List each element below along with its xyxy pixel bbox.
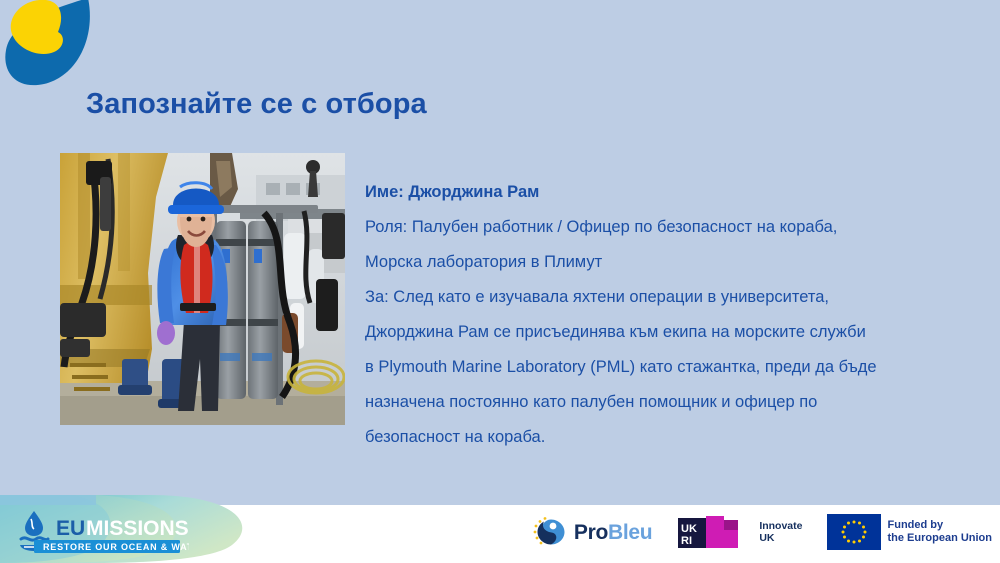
member-role-line-2: Морска лаборатория в Плимут xyxy=(365,245,965,280)
eu-flag-icon xyxy=(827,514,881,550)
member-about-line-2: Джорджина Рам се присъединява към екипа … xyxy=(365,315,965,350)
funded-by-eu-logo: Funded by the European Union xyxy=(827,512,993,552)
member-role-line-1: Роля: Палубен работник / Офицер по безоп… xyxy=(365,210,965,245)
probleu-pro-text: Pro xyxy=(574,521,608,544)
probleu-icon xyxy=(531,514,567,550)
member-name: Име: Джорджина Рам xyxy=(365,175,965,210)
funded-by-eu-text: Funded by the European Union xyxy=(888,519,993,546)
innovate-uk-logo: UK RI Innovate UK xyxy=(676,512,802,552)
svg-text:RESTORE OUR OCEAN & WATERS: RESTORE OUR OCEAN & WATERS xyxy=(43,542,189,552)
slide-canvas: Запознайте се с отбора xyxy=(0,0,1000,563)
innovate-line-1: Innovate xyxy=(759,520,802,532)
member-about-line-3: в Plymouth Marine Laboratory (PML) като … xyxy=(365,350,965,385)
member-about-line-5: безопасност на кораба. xyxy=(365,420,965,455)
ukri-icon: UK RI xyxy=(676,512,752,552)
page-title: Запознайте се с отбора xyxy=(86,88,427,121)
probleu-bleu-text: Bleu xyxy=(608,521,652,544)
innovate-line-2: UK xyxy=(759,532,802,544)
svg-text:EU: EU xyxy=(56,517,85,540)
funded-line-2: the European Union xyxy=(888,532,993,546)
team-member-photo xyxy=(60,153,345,425)
partner-logos: ProBleu UK RI Innovate UK xyxy=(531,510,992,554)
innovate-uk-text: Innovate UK xyxy=(759,520,802,544)
member-about-line-1: За: След като е изучавала яхтени операци… xyxy=(365,280,965,315)
eu-missions-logo: EU MISSIONS RESTORE OUR OCEAN & WATERS xyxy=(14,509,189,555)
funded-line-1: Funded by xyxy=(888,519,993,533)
svg-text:RI: RI xyxy=(681,535,692,547)
member-about-line-4: назначена постоянно като палубен помощни… xyxy=(365,385,965,420)
svg-text:MISSIONS: MISSIONS xyxy=(86,517,189,540)
bio-text-block: Име: Джорджина Рам Роля: Палубен работни… xyxy=(365,175,965,455)
svg-text:UK: UK xyxy=(681,523,697,535)
probleu-wordmark: ProBleu xyxy=(574,522,652,543)
probleu-logo: ProBleu xyxy=(531,512,652,552)
